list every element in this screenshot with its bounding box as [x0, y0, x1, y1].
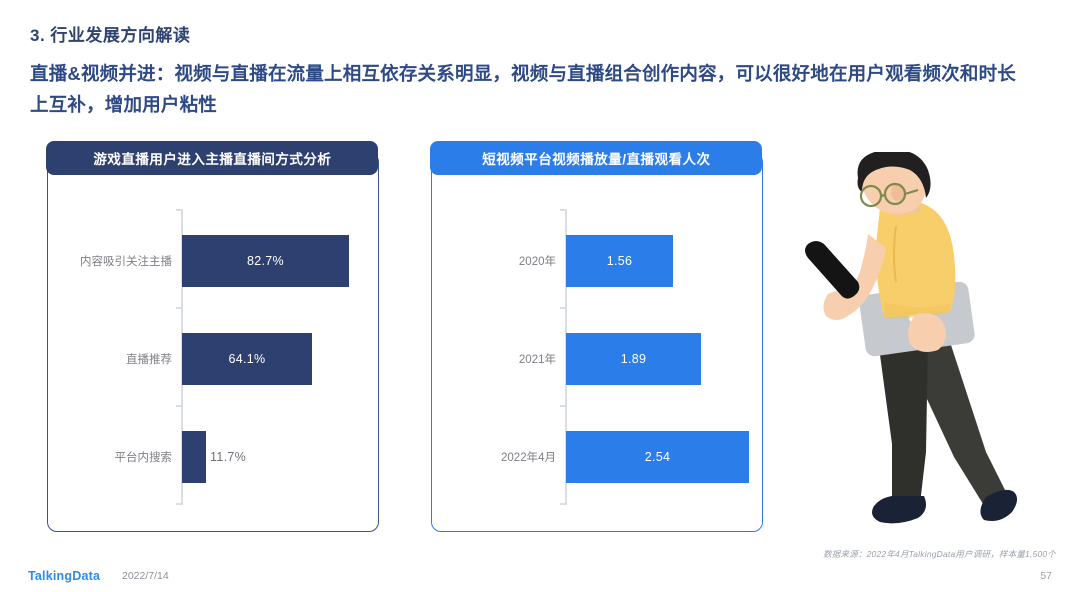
axis-tick — [176, 405, 182, 407]
axis-tick — [176, 503, 182, 505]
bar[interactable]: 2.54 — [566, 431, 749, 483]
brand-logo: TalkingData — [28, 569, 100, 583]
axis-tick — [176, 307, 182, 309]
axis-tick — [560, 503, 566, 505]
chart-title-bar-right: 短视频平台视频播放量/直播观看人次 — [430, 141, 762, 175]
bar[interactable]: 1.89 — [566, 333, 701, 385]
bar[interactable]: 1.56 — [566, 235, 673, 287]
lead-paragraph: 直播&视频并进：视频与直播在流量上相互依存关系明显，视频与直播组合创作内容，可以… — [30, 58, 1030, 120]
bar-value: 11.7% — [210, 450, 246, 464]
walking-man-illustration — [800, 152, 1070, 542]
chart-title-bar-left: 游戏直播用户进入主播直播间方式分析 — [46, 141, 378, 175]
bar-row: 2021年 1.89 — [432, 333, 762, 385]
bar[interactable]: 82.7% — [182, 235, 349, 287]
axis-tick — [176, 209, 182, 211]
bar-row: 2022年4月 2.54 — [432, 431, 762, 483]
axis-tick — [560, 209, 566, 211]
bar-row: 平台内搜索 11.7% — [48, 431, 378, 483]
page-title: 3. 行业发展方向解读 — [30, 24, 1050, 48]
bar[interactable] — [182, 431, 206, 483]
plot-area-left: 内容吸引关注主播 82.7% 直播推荐 64.1% 平台内搜索 11.7% — [48, 187, 378, 531]
category-label: 直播推荐 — [52, 351, 172, 367]
category-label: 内容吸引关注主播 — [52, 253, 172, 269]
category-label: 平台内搜索 — [52, 449, 172, 465]
bar-value: 2.54 — [645, 450, 671, 464]
category-label: 2022年4月 — [436, 449, 556, 465]
axis-tick — [560, 307, 566, 309]
source-note: 数据来源：2022年4月TalkingData用户调研，样本量1,500个 — [823, 548, 1056, 560]
bar-value: 64.1% — [229, 352, 266, 366]
bar-row: 2020年 1.56 — [432, 235, 762, 287]
plot-area-right: 2020年 1.56 2021年 1.89 2022年4月 2.54 — [432, 187, 762, 531]
footer-date: 2022/7/14 — [122, 570, 169, 582]
bar-row: 直播推荐 64.1% — [48, 333, 378, 385]
chart-card-right: 短视频平台视频播放量/直播观看人次 2020年 1.56 2021年 1.89 … — [431, 152, 763, 532]
chart-card-left: 游戏直播用户进入主播直播间方式分析 内容吸引关注主播 82.7% 直播推荐 64… — [47, 152, 379, 532]
slide-header: 3. 行业发展方向解读 直播&视频并进：视频与直播在流量上相互依存关系明显，视频… — [30, 24, 1050, 120]
bar-value: 1.56 — [607, 254, 633, 268]
axis-tick — [560, 405, 566, 407]
page-number: 57 — [1040, 570, 1052, 582]
bar-value: 82.7% — [247, 254, 284, 268]
bar[interactable]: 64.1% — [182, 333, 312, 385]
bar-value: 1.89 — [621, 352, 647, 366]
category-label: 2020年 — [436, 253, 556, 269]
footer-bar: TalkingData 2022/7/14 57 — [0, 562, 1080, 592]
chart-title-right: 短视频平台视频播放量/直播观看人次 — [482, 148, 710, 168]
category-label: 2021年 — [436, 351, 556, 367]
chart-title-left: 游戏直播用户进入主播直播间方式分析 — [93, 148, 331, 168]
bar-row: 内容吸引关注主播 82.7% — [48, 235, 378, 287]
